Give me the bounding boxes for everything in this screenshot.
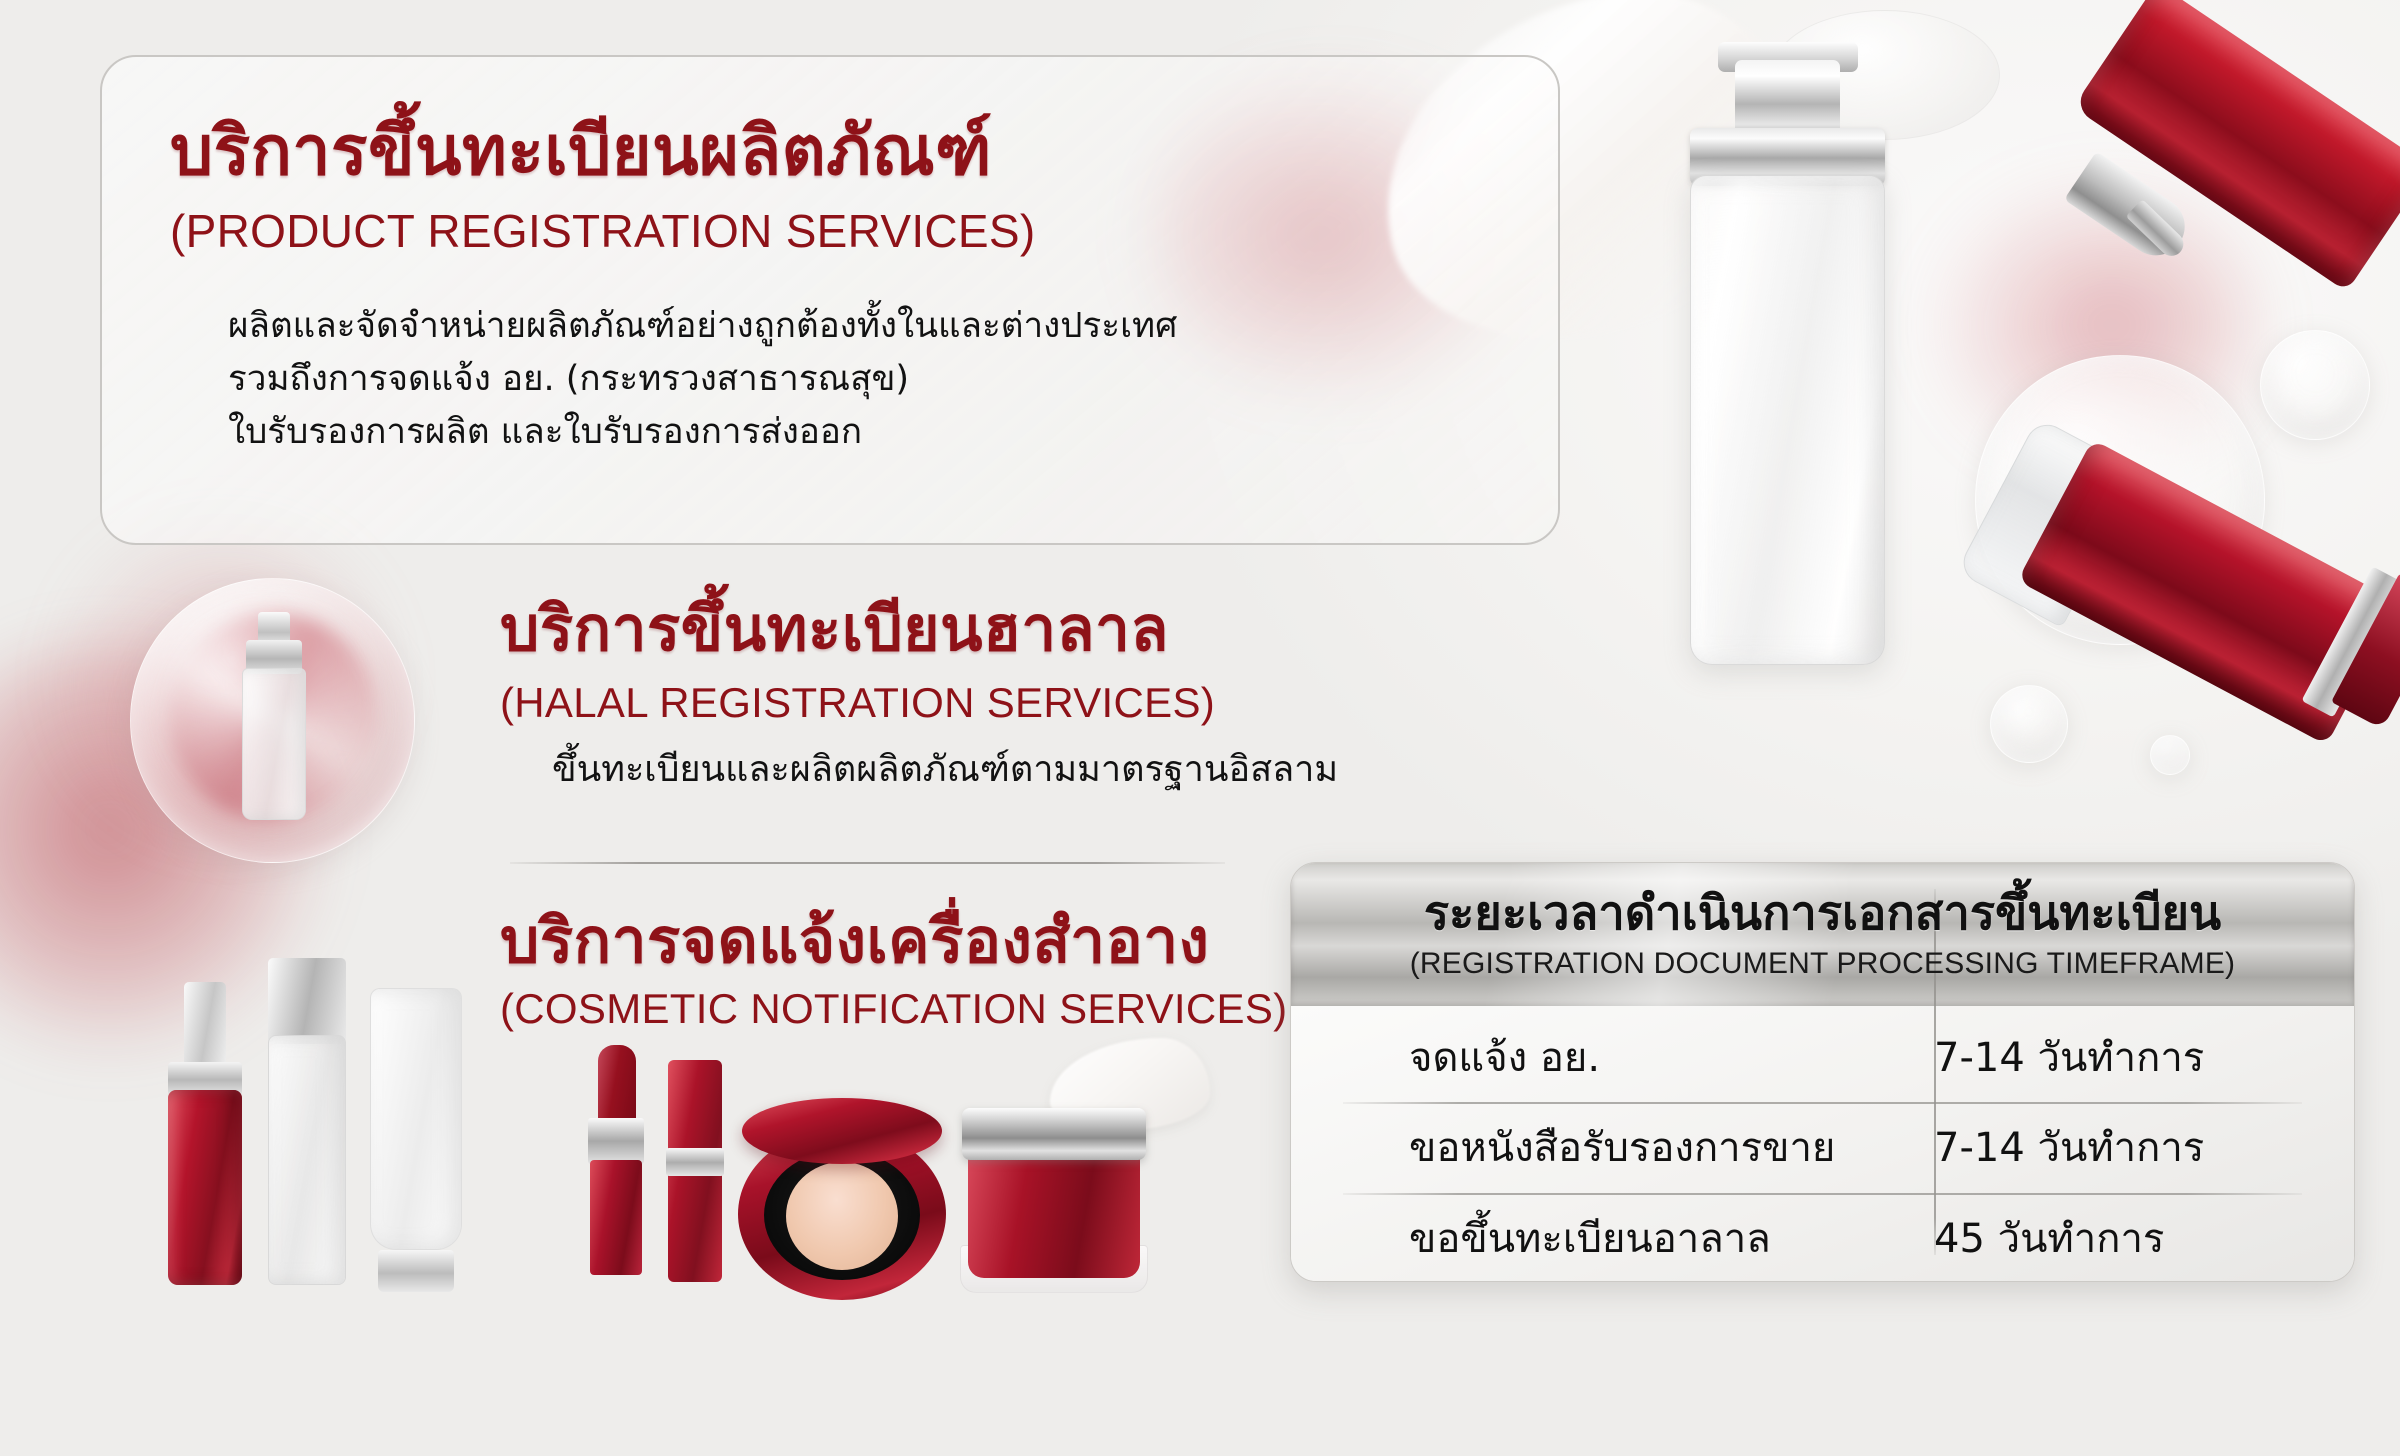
table-row: จดแจ้ง อย. 7-14 วันทำการ [1291, 1012, 2354, 1102]
glass-bubble-decor [1990, 685, 2068, 763]
service-name: จดแจ้ง อย. [1291, 1025, 1886, 1089]
timeframe-table: จดแจ้ง อย. 7-14 วันทำการ ขอหนังสือรับรอง… [1291, 1006, 2354, 1282]
service-name: ขอขึ้นทะเบียนอาลาล [1291, 1206, 1886, 1270]
body-line: ใบรับรองการผลิต และใบรับรองการส่งออก [228, 406, 1177, 459]
product-registration-en-title: (PRODUCT REGISTRATION SERVICES) [170, 208, 1036, 254]
service-name: ขอหนังสือรับรองการขาย [1291, 1115, 1886, 1179]
cosmetic-notification-th-title: บริการจดแจ้งเครื่องสำอาง [500, 910, 1209, 972]
timeframe-th-title: ระยะเวลาดำเนินการเอกสารขึ้นทะเบียน [1424, 890, 2221, 937]
product-registration-body: ผลิตและจัดจำหน่ายผลิตภัณฑ์อย่างถูกต้องทั… [228, 300, 1177, 460]
timeframe-panel: ระยะเวลาดำเนินการเอกสารขึ้นทะเบียน (REGI… [1290, 862, 2355, 1282]
glass-ring-decor [2260, 330, 2370, 440]
table-row: ขอหนังสือรับรองการขาย 7-14 วันทำการ [1291, 1102, 2354, 1192]
body-line: ผลิตและจัดจำหน่ายผลิตภัณฑ์อย่างถูกต้องทั… [228, 300, 1177, 353]
service-duration: 7-14 วันทำการ [1886, 1115, 2354, 1179]
body-line: รวมถึงการจดแจ้ง อย. (กระทรวงสาธารณสุข) [228, 353, 1177, 406]
halal-registration-body: ขึ้นทะเบียนและผลิตผลิตภัณฑ์ตามมาตรฐานอิส… [552, 752, 1338, 788]
section-divider [510, 862, 1225, 864]
halal-registration-en-title: (HALAL REGISTRATION SERVICES) [500, 682, 1215, 724]
service-duration: 7-14 วันทำการ [1886, 1025, 2354, 1089]
table-row: ขอขึ้นทะเบียนอาลาล 45 วันทำการ [1291, 1193, 2354, 1282]
halal-registration-th-title: บริการขึ้นทะเบียนฮาลาล [500, 598, 1169, 660]
product-registration-th-title: บริการขึ้นทะเบียนผลิตภัณฑ์ [170, 118, 992, 186]
mini-bottle-body [242, 668, 306, 820]
timeframe-en-title: (REGISTRATION DOCUMENT PROCESSING TIMEFR… [1410, 949, 2236, 979]
poster-canvas: บริการขึ้นทะเบียนผลิตภัณฑ์ (PRODUCT REGI… [0, 0, 2400, 1456]
glass-bubble-decor [2150, 735, 2190, 775]
cosmetic-notification-en-title: (COSMETIC NOTIFICATION SERVICES) [500, 988, 1287, 1030]
timeframe-panel-header: ระยะเวลาดำเนินการเอกสารขึ้นทะเบียน (REGI… [1291, 863, 2354, 1006]
service-duration: 45 วันทำการ [1886, 1206, 2354, 1270]
